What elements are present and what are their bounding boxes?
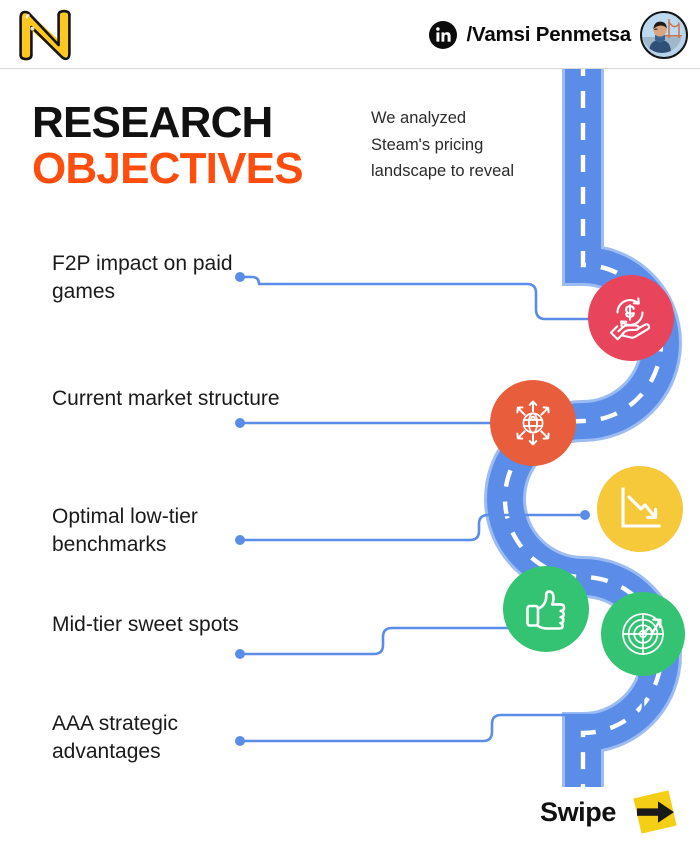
connector-path-3 [240,515,585,540]
title-line-research: RESEARCH [32,100,362,146]
globe-expand-arrows-icon [506,396,560,450]
swipe-cta[interactable]: Swipe [540,785,682,839]
objective-label-5: AAA strategic advantages [52,710,282,766]
connector-dot-start-2 [235,418,245,428]
page-title: RESEARCH OBJECTIVES [32,100,362,192]
linkedin-handle-group[interactable]: /Vamsi Penmetsa [429,0,688,69]
objective-icon-1 [588,275,674,361]
connector-path-5 [240,676,643,741]
connector-path-4 [240,628,527,654]
connector-path-1 [240,277,621,319]
objective-icon-2 [490,380,576,466]
linkedin-handle-text: /Vamsi Penmetsa [466,23,631,47]
avatar [640,11,688,59]
connector-dot-start-4 [235,649,245,659]
subtitle-text: We analyzed Steam's pricing landscape to… [371,105,521,185]
title-line-objectives: OBJECTIVES [32,146,362,192]
arrow-right-icon[interactable] [628,785,682,839]
infographic-slide: /Vamsi Penmetsa [0,0,700,857]
radar-growth-icon [616,607,670,661]
objective-icon-5 [601,592,685,676]
brand-logo-n-icon [14,5,76,65]
objective-label-2: Current market structure [52,385,282,413]
objective-label-4: Mid-tier sweet spots [52,611,282,639]
declining-chart-icon [614,483,666,535]
swipe-label: Swipe [540,797,616,828]
thumbs-up-icon [520,583,572,635]
connector-dot-end-3 [580,510,590,520]
header-bar: /Vamsi Penmetsa [0,0,700,69]
linkedin-icon[interactable] [429,21,457,49]
hand-holding-money-icon [605,292,657,344]
objective-label-1: F2P impact on paid games [52,250,282,306]
objective-icon-4 [503,566,589,652]
objective-label-3: Optimal low-tier benchmarks [52,503,282,559]
objective-icon-3 [597,466,683,552]
